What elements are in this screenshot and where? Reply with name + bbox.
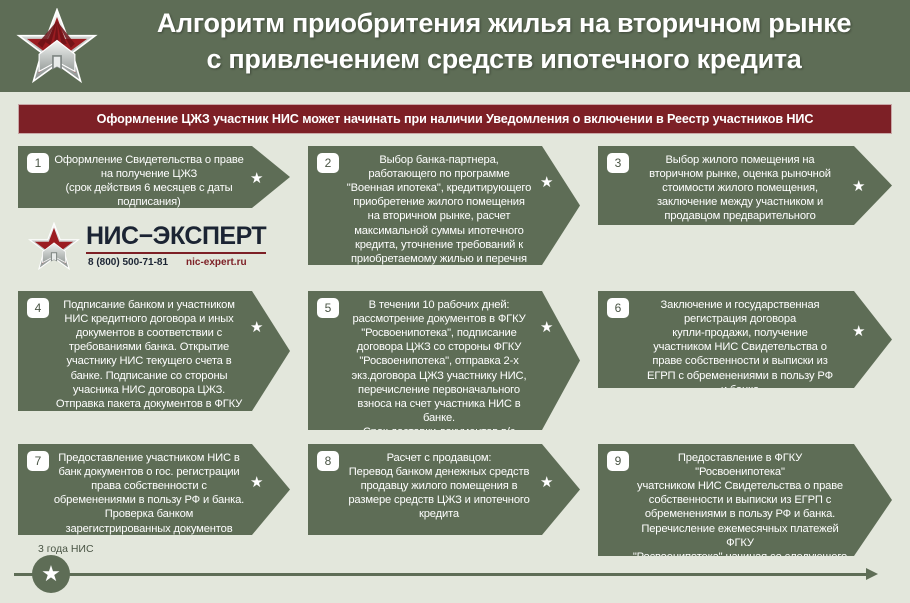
step-box-2[interactable]: 2 Выбор банка-партнера, работающего по п… — [308, 146, 580, 265]
step-box-5[interactable]: 5 В течении 10 рабочих дней: рассмотрени… — [308, 291, 580, 430]
step-box-8[interactable]: 8 Расчет с продавцом: Перевод банком ден… — [308, 444, 580, 535]
step-box-4[interactable]: 4 Подписание банком и участником НИС кре… — [18, 291, 290, 411]
step-box-1[interactable]: 1 Оформление Свидетельства о праве на по… — [18, 146, 290, 208]
step-number-badge: 9 — [607, 451, 629, 471]
nis-expert-website[interactable]: nic-expert.ru — [186, 257, 247, 268]
nis-expert-logo: НИС−ЭКСПЕРТ 8 (800) 500-71-81 nic-expert… — [28, 222, 263, 274]
nis-expert-phone[interactable]: 8 (800) 500-71-81 — [88, 257, 168, 268]
timeline-line — [14, 573, 872, 576]
star-icon: ★ — [852, 180, 866, 194]
step-text: В течении 10 рабочих дней: рассмотрение … — [342, 298, 536, 453]
step-box-7[interactable]: 7 Предоставление участником НИС в банк д… — [18, 444, 290, 535]
notice-banner-text: Оформление ЦЖЗ участник НИС может начина… — [97, 112, 814, 126]
step-text: Выбор жилого помещения на вторичном рынк… — [632, 153, 848, 238]
step-text: Предоставление участником НИС в банк док… — [52, 451, 246, 536]
step-text: Оформление Свидетельства о праве на полу… — [52, 153, 246, 209]
step-text: Выбор банка-партнера, работающего по про… — [342, 153, 536, 294]
step-box-9[interactable]: 9 Предоставление в ФГКУ "Росвоенипотека"… — [598, 444, 892, 556]
step-text: Предоставление в ФГКУ "Росвоенипотека" у… — [632, 451, 848, 592]
star-icon: ★ — [41, 563, 61, 585]
star-icon: ★ — [540, 476, 554, 490]
step-box-6[interactable]: 6 Заключение и государственная регистрац… — [598, 291, 892, 388]
step-number-badge: 3 — [607, 153, 629, 173]
step-number-badge: 7 — [27, 451, 49, 471]
timeline-star-marker: ★ — [32, 555, 70, 593]
infographic-page: Алгоритм приобритения жилья на вторичном… — [0, 0, 910, 603]
star-icon: ★ — [250, 321, 264, 335]
step-number-badge: 6 — [607, 298, 629, 318]
header-banner: Алгоритм приобритения жилья на вторичном… — [0, 0, 910, 92]
star-icon: ★ — [250, 476, 264, 490]
arrow-right-icon — [866, 568, 878, 580]
step-text: Заключение и государственная регистрация… — [632, 298, 848, 397]
step-number-badge: 1 — [27, 153, 49, 173]
nis-expert-name: НИС−ЭКСПЕРТ — [86, 222, 266, 254]
timeline-label: 3 года НИС — [38, 543, 94, 555]
star-house-logo-icon — [16, 8, 98, 86]
step-text: Расчет с продавцом: Перевод банком денеж… — [342, 451, 536, 522]
star-icon: ★ — [250, 172, 264, 186]
star-icon: ★ — [852, 325, 866, 339]
page-title: Алгоритм приобритения жилья на вторичном… — [104, 6, 904, 77]
star-icon: ★ — [540, 176, 554, 190]
notice-banner: Оформление ЦЖЗ участник НИС может начина… — [18, 104, 892, 134]
step-number-badge: 5 — [317, 298, 339, 318]
star-icon: ★ — [540, 321, 554, 335]
step-number-badge: 8 — [317, 451, 339, 471]
step-number-badge: 4 — [27, 298, 49, 318]
step-number-badge: 2 — [317, 153, 339, 173]
step-text: Подписание банком и участником НИС креди… — [52, 298, 246, 425]
step-box-3[interactable]: 3 Выбор жилого помещения на вторичном ры… — [598, 146, 892, 225]
star-house-logo-icon — [28, 222, 80, 272]
